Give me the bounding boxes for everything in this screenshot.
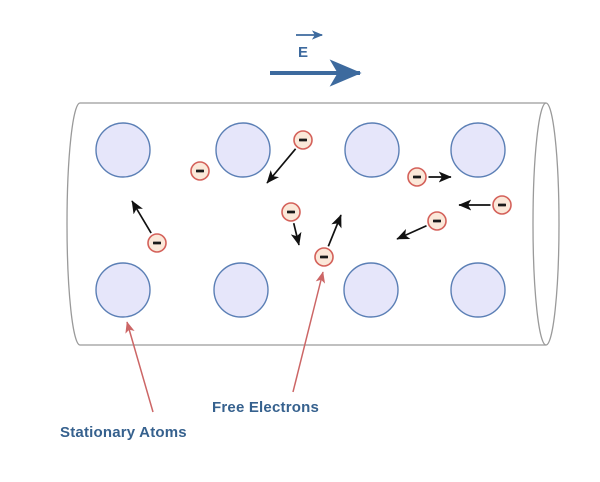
electron-velocity-arrows	[132, 149, 491, 247]
minus-sign-icon	[287, 211, 295, 214]
atom	[451, 123, 505, 177]
atom	[214, 263, 268, 317]
electron-velocity-arrow	[132, 201, 151, 233]
minus-sign-icon	[153, 242, 161, 245]
minus-sign-icon	[413, 176, 421, 179]
callout-free-electrons-pointer	[293, 272, 323, 392]
cylinder-left-cap-arc	[67, 103, 80, 345]
efield-symbol-label: E	[298, 44, 308, 61]
electron-8	[428, 212, 446, 230]
atom	[96, 123, 150, 177]
electron-2	[294, 131, 312, 149]
electron-4	[493, 196, 511, 214]
callout-stationary-atoms-pointer	[127, 322, 153, 412]
minus-sign-icon	[433, 220, 441, 223]
atom	[344, 263, 398, 317]
minus-sign-icon	[196, 170, 204, 173]
electron-1	[191, 162, 209, 180]
electron-velocity-arrow	[397, 226, 427, 239]
atom	[451, 263, 505, 317]
free-electrons-label: Free Electrons	[212, 399, 319, 416]
cylinder-right-cap-ellipse	[533, 103, 559, 345]
stationary-atoms-label: Stationary Atoms	[60, 424, 187, 441]
electron-drift-diagram: E Stationary Atoms Free Electrons	[0, 0, 600, 482]
electron-3	[408, 168, 426, 186]
electric-field-group: E	[270, 35, 360, 73]
atom	[216, 123, 270, 177]
atom	[345, 123, 399, 177]
minus-sign-icon	[299, 139, 307, 142]
electron-velocity-arrow	[294, 223, 299, 245]
atom	[96, 263, 150, 317]
electron-6	[282, 203, 300, 221]
diagram-canvas: E Stationary Atoms Free Electrons	[0, 0, 600, 482]
minus-sign-icon	[320, 256, 328, 259]
electron-5	[148, 234, 166, 252]
electron-velocity-arrow	[328, 215, 341, 246]
electron-7	[315, 248, 333, 266]
electron-velocity-arrow	[267, 149, 296, 183]
minus-sign-icon	[498, 204, 506, 207]
